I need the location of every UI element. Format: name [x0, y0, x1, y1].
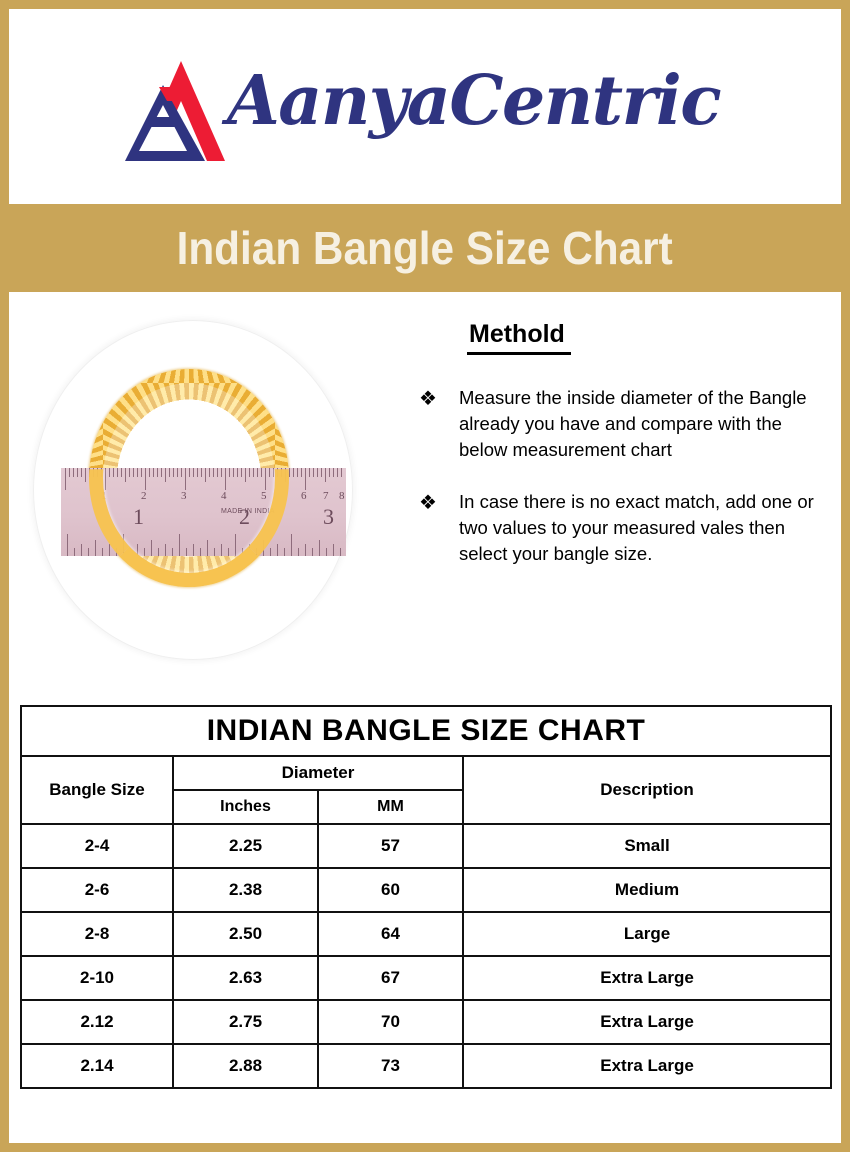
cell-mm: 60 [318, 868, 463, 912]
cell-inches: 2.63 [173, 956, 318, 1000]
table-header-row-1: Bangle Size Diameter Description [21, 756, 831, 790]
table-row: 2-4 2.25 57 Small [21, 824, 831, 868]
size-chart-table-section: INDIAN BANGLE SIZE CHART Bangle Size Dia… [9, 692, 841, 1143]
ruler-cm-label: 7 [323, 490, 329, 502]
size-chart-page: AanyaCentric Indian Bangle Size Chart [0, 0, 850, 1152]
cell-mm: 57 [318, 824, 463, 868]
table-row: 2.14 2.88 73 Extra Large [21, 1044, 831, 1088]
aanyacentric-triangle-logo-icon [119, 57, 229, 167]
cell-description: Small [463, 824, 831, 868]
list-item: ❖ Measure the inside diameter of the Ban… [419, 385, 824, 463]
cell-description: Medium [463, 868, 831, 912]
page-title: Indian Bangle Size Chart [177, 221, 673, 275]
ruler-cm-label: 8 [339, 490, 345, 502]
logo-band: AanyaCentric [9, 9, 841, 204]
cell-size: 2-8 [21, 912, 173, 956]
table-title-row: INDIAN BANGLE SIZE CHART [21, 706, 831, 756]
cell-inches: 2.75 [173, 1000, 318, 1044]
brand-wordmark: AanyaCentric [227, 45, 727, 165]
cell-inches: 2.50 [173, 912, 318, 956]
table-title: INDIAN BANGLE SIZE CHART [21, 706, 831, 756]
table-row: 2-6 2.38 60 Medium [21, 868, 831, 912]
list-item-label: In case there is no exact match, add one… [459, 489, 824, 567]
cell-description: Extra Large [463, 956, 831, 1000]
cell-size: 2.14 [21, 1044, 173, 1088]
ruler-cm-label: 6 [301, 490, 307, 502]
ruler-inch-label: 3 [323, 504, 334, 530]
method-heading: Methold [467, 320, 571, 355]
cell-size: 2-4 [21, 824, 173, 868]
cell-description: Extra Large [463, 1000, 831, 1044]
column-group-header-diameter: Diameter [173, 756, 463, 790]
cell-inches: 2.88 [173, 1044, 318, 1088]
table-row: 2-8 2.50 64 Large [21, 912, 831, 956]
cell-description: Large [463, 912, 831, 956]
cell-size: 2-6 [21, 868, 173, 912]
cell-inches: 2.38 [173, 868, 318, 912]
column-header-description: Description [463, 756, 831, 824]
cell-inches: 2.25 [173, 824, 318, 868]
table-row: 2-10 2.63 67 Extra Large [21, 956, 831, 1000]
size-chart-table: INDIAN BANGLE SIZE CHART Bangle Size Dia… [20, 705, 832, 1089]
column-header-mm: MM [318, 790, 463, 824]
cell-mm: 70 [318, 1000, 463, 1044]
column-header-bangle-size: Bangle Size [21, 756, 173, 824]
method-section: 1 2 3 4 5 6 7 8 1 2 3 MADE IN INDIA [9, 292, 841, 692]
cell-size: 2.12 [21, 1000, 173, 1044]
cell-mm: 67 [318, 956, 463, 1000]
gold-bangle-with-ruler-photo: 1 2 3 4 5 6 7 8 1 2 3 MADE IN INDIA [25, 314, 375, 669]
cell-mm: 73 [318, 1044, 463, 1088]
cell-mm: 64 [318, 912, 463, 956]
column-header-inches: Inches [173, 790, 318, 824]
table-row: 2.12 2.75 70 Extra Large [21, 1000, 831, 1044]
list-item-label: Measure the inside diameter of the Bangl… [459, 385, 824, 463]
list-item: ❖ In case there is no exact match, add o… [419, 489, 824, 567]
page-title-band: Indian Bangle Size Chart [9, 204, 841, 292]
method-text-block: Methold ❖ Measure the inside diameter of… [419, 320, 824, 593]
cell-size: 2-10 [21, 956, 173, 1000]
brand-logo: AanyaCentric [119, 39, 729, 179]
method-bullet-list: ❖ Measure the inside diameter of the Ban… [419, 385, 824, 567]
cell-description: Extra Large [463, 1044, 831, 1088]
diamond-bullet-icon: ❖ [419, 489, 459, 567]
diamond-bullet-icon: ❖ [419, 385, 459, 463]
